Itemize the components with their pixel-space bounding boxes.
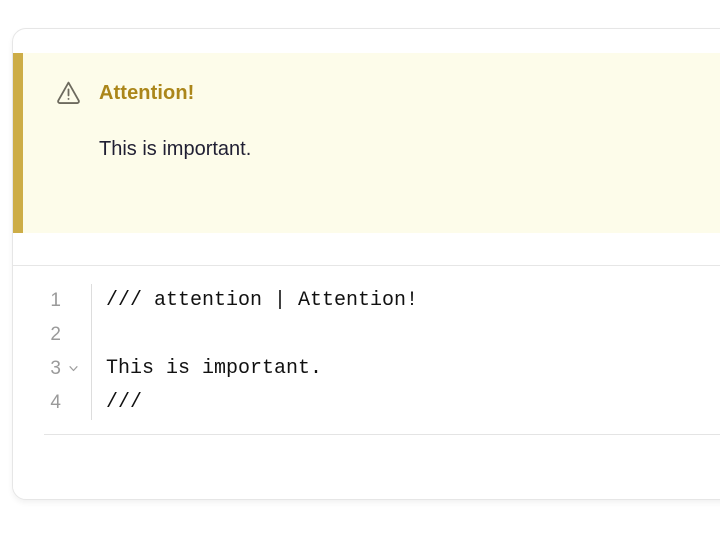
fold-gutter <box>61 318 92 352</box>
line-number: 1 <box>13 284 61 318</box>
code-line[interactable]: 1 /// attention | Attention! <box>13 284 720 318</box>
code-editor-pane[interactable]: 1 /// attention | Attention! 2 3 This is… <box>13 266 720 489</box>
attention-admonition: Attention! This is important. <box>13 53 720 233</box>
line-number: 3 <box>13 352 61 386</box>
code-line-text: /// attention | Attention! <box>92 284 418 318</box>
line-number: 2 <box>13 318 61 352</box>
admonition-title-row: Attention! <box>55 79 720 106</box>
code-line[interactable]: 2 <box>13 318 720 352</box>
warning-triangle-icon <box>55 79 82 106</box>
code-line-text: /// <box>92 386 142 420</box>
fold-gutter <box>61 284 92 318</box>
example-card: Attention! This is important. 1 /// atte… <box>12 28 720 500</box>
admonition-title: Attention! <box>99 83 194 103</box>
code-line[interactable]: 3 This is important. <box>13 352 720 386</box>
fold-gutter[interactable] <box>61 352 92 386</box>
code-line-text: This is important. <box>92 352 322 386</box>
chevron-down-icon[interactable] <box>68 363 79 374</box>
code-line-list: 1 /// attention | Attention! 2 3 This is… <box>13 284 720 420</box>
preview-pane: Attention! This is important. <box>13 29 720 265</box>
code-line[interactable]: 4 /// <box>13 386 720 420</box>
line-number: 4 <box>13 386 61 420</box>
admonition-body: This is important. <box>55 136 720 162</box>
fold-gutter <box>61 386 92 420</box>
code-footer <box>13 435 720 475</box>
